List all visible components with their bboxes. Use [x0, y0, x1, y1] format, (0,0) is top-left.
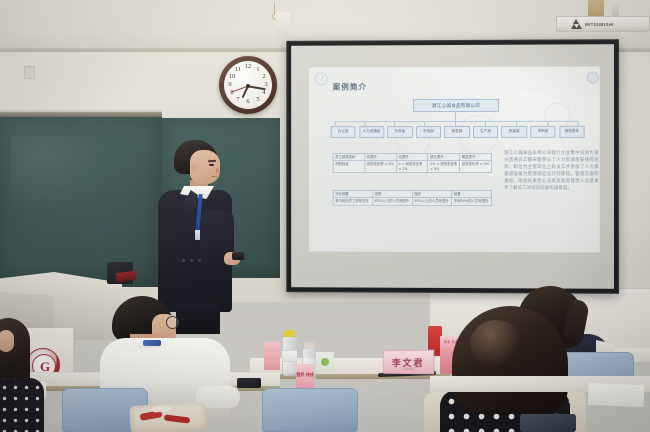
clock-num-10: 10 [226, 74, 238, 81]
org-chart-department-row: 办公室 人力资源部 财务部 市场部 研发部 生产部 质量部 采购部 销售服务 [331, 126, 585, 138]
org-dept-box: 人力资源部 [359, 126, 384, 137]
org-chart-tick [394, 121, 395, 126]
tablet-device[interactable] [520, 414, 576, 432]
table-cell: 85%以上的人员有提升 [373, 198, 413, 205]
org-chart-tick [364, 121, 365, 126]
wall-socket [24, 66, 35, 79]
bottle-label [282, 350, 297, 362]
clock-face: 12 1 2 3 4 5 6 7 8 9 10 11 [224, 61, 272, 109]
table-header-cell: 明显提升 [460, 153, 492, 160]
table-header-row: 员工绩效变化 负提升 无提升 部分提升 明显提升 [333, 153, 491, 160]
org-chart-tick [516, 121, 517, 126]
projector-screen-housing: MITSUBISHI [556, 16, 650, 32]
slide-title: 案例简介 [333, 81, 367, 92]
org-chart-tick [578, 121, 579, 126]
presenter-trousers [176, 304, 220, 334]
projector-brand-label: MITSUBISHI [585, 22, 614, 27]
org-dept-box: 研发部 [444, 126, 469, 138]
table-cell: 绩效变化率 < 0% [365, 161, 397, 172]
table-cell: 不到50%的人员有提升 [452, 198, 492, 205]
table-cell: 0 < 绩效变化率 < 2% [396, 161, 428, 172]
audience-lanyard [143, 340, 161, 346]
carton-label: 营养 快线 [296, 372, 314, 377]
clock-center-pin [246, 84, 250, 88]
presenter-student [150, 140, 254, 310]
snack-item [152, 405, 170, 412]
table-header-cell: 部分提升 [428, 153, 460, 160]
presentation-clicker[interactable] [232, 252, 244, 260]
presenter-ear [191, 164, 197, 172]
blazer-button [182, 259, 185, 262]
blackboard [0, 115, 162, 287]
clock-num-4: 4 [258, 90, 270, 97]
name-placard: 李文君 评审专家 [383, 350, 434, 375]
slide-decorative-circle [396, 123, 430, 157]
table-row: 参与培训员工绩效变化 85%以上的人员有提升 50%以上的人员有提升 不到50%… [333, 198, 491, 205]
screen-surface: 案例简介 浙江心诚食品有限公司 办公室 人力资源部 财务部 市场部 [291, 44, 614, 289]
table-cell: 判别标准 [333, 161, 365, 172]
org-chart-root-node: 浙江心诚食品有限公司 [413, 99, 499, 112]
papers-right [588, 383, 645, 407]
org-chart-tick [424, 121, 425, 126]
table-row: 判别标准 绩效变化率 < 0% 0 < 绩效变化率 < 2% 2% < 绩效变化… [333, 161, 491, 173]
pink-snack-box [264, 342, 280, 370]
org-chart-tick [335, 121, 336, 126]
org-dept-box: 生产部 [473, 126, 498, 138]
org-dept-box: 销售服务 [559, 126, 585, 138]
slide-evaluation-table: 评价效果 优秀 良好 较差 参与培训员工绩效变化 85%以上的人员有提升 50%… [333, 190, 492, 206]
bottle-cap [304, 342, 314, 349]
table-header-cell: 良好 [412, 190, 452, 197]
classroom-photo-scene: MITSUBISHI 12 1 2 3 4 5 6 7 8 9 10 11 [0, 0, 650, 432]
slide-decorative-circle [458, 115, 498, 155]
table-header-row: 评价效果 优秀 良好 较差 [333, 190, 491, 197]
slide-decorative-circle [544, 103, 570, 129]
blazer-button [198, 259, 201, 262]
org-chart-tick [485, 121, 486, 126]
bottle-cap [284, 330, 295, 337]
ceiling-mount-strip [276, 12, 290, 38]
green-tea-box [316, 352, 334, 372]
table-cell: 50%以上的人员有提升 [412, 198, 452, 205]
table-cell: 2% < 绩效变化率 < 5% [428, 161, 460, 173]
table-cell: 绩效变化率 > 5% [460, 161, 492, 173]
table-header-cell: 评价效果 [333, 190, 372, 197]
hair-highlight [470, 320, 522, 368]
mitsubishi-three-diamond-logo [571, 19, 582, 29]
clock-num-9: 9 [224, 82, 236, 89]
audience-left-face [0, 330, 14, 352]
org-chart-tick [455, 121, 456, 126]
chair-front-center [262, 388, 358, 432]
org-chart-tick [547, 121, 548, 126]
org-dept-box: 采购部 [530, 126, 556, 138]
slide-body-paragraph: 浙江心诚食品有限公司现行企业集中培训大部分普通员工都未能参与了人力资源部安排的培… [504, 151, 599, 193]
slide-decorative-circle [508, 127, 566, 185]
audience-left-polka-dots [0, 378, 44, 432]
table-header-cell: 较差 [452, 191, 492, 198]
table-cell: 参与培训员工绩效变化 [333, 198, 372, 205]
org-chart-horizontal-bar [335, 121, 579, 122]
green-dot-icon [321, 358, 329, 366]
blazer-button [190, 259, 193, 262]
table-header-cell: 员工绩效变化 [333, 154, 365, 161]
org-dept-box: 质量部 [502, 126, 528, 138]
presentation-slide: 案例简介 浙江心诚食品有限公司 办公室 人力资源部 财务部 市场部 [309, 66, 600, 252]
slide-corner-badge-icon [587, 71, 599, 83]
smartphone[interactable] [237, 378, 261, 388]
org-chart-stem [455, 112, 456, 121]
slide-corner-badge-icon [315, 72, 328, 85]
projection-screen[interactable]: 案例简介 浙江心诚食品有限公司 办公室 人力资源部 财务部 市场部 [286, 39, 619, 294]
table-header-cell: 无提升 [396, 154, 428, 161]
table-header-cell: 负提升 [365, 154, 397, 161]
eyeglasses-icon [166, 316, 179, 329]
org-dept-box: 办公室 [331, 126, 356, 137]
wall-clock: 12 1 2 3 4 5 6 7 8 9 10 11 [219, 56, 277, 114]
clock-num-2: 2 [258, 74, 270, 81]
org-dept-box: 市场部 [416, 126, 441, 138]
org-dept-box: 财务部 [387, 126, 412, 138]
clock-num-11: 11 [232, 67, 244, 74]
placard-subtitle: 评审专家 [384, 367, 435, 371]
slide-performance-table: 员工绩效变化 负提升 无提升 部分提升 明显提升 判别标准 绩效变化率 < 0%… [333, 153, 492, 173]
blackboard-rail-highlight [0, 110, 162, 112]
table-header-cell: 优秀 [373, 190, 413, 197]
